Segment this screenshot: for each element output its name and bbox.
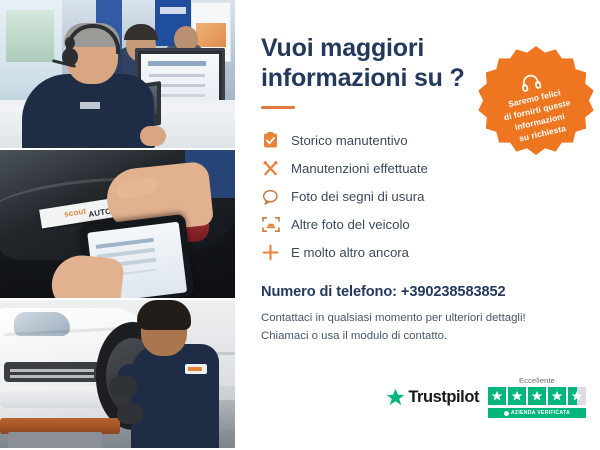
trustpilot-wordmark: Trustpilot: [408, 388, 479, 407]
headline-line-1: Vuoi maggiori: [261, 34, 424, 62]
star-filled: [528, 387, 546, 405]
sticker-on-car-photo: AUTOscout: [0, 150, 235, 298]
page-title: Vuoi maggiori informazioni su ?: [261, 34, 471, 93]
phone-number[interactable]: +390238583852: [401, 284, 506, 300]
photo-column: AUTOscout: [0, 0, 235, 450]
contact-copy-line-1: Contattaci in qualsiasi momento per ulte…: [261, 309, 578, 327]
star-filled: [508, 387, 526, 405]
mechanic-hair: [137, 300, 191, 330]
list-item-label: Altre foto del veicolo: [291, 217, 410, 233]
speech-bubble-icon: [261, 187, 280, 206]
trustpilot-widget[interactable]: Trustpilot Eccellente: [386, 376, 586, 418]
contact-copy: Contattaci in qualsiasi momento per ulte…: [261, 309, 578, 346]
sticker-label: AUTOscout: [63, 206, 86, 218]
mechanic-uniform-badge: [185, 364, 207, 374]
contact-copy-line-2: Chiamaci o usa il modulo di contatto.: [261, 327, 578, 345]
content-panel: Vuoi maggiori informazioni su ? Saremo f…: [235, 0, 600, 450]
check-circle-icon: [504, 411, 509, 416]
list-item-label: E molto altro ancora: [291, 245, 409, 261]
list-item: Storico manutentivo: [261, 131, 501, 150]
phone-label: Numero di telefono:: [261, 284, 397, 300]
list-item: Manutenzioni effettuate: [261, 159, 501, 178]
list-item-label: Manutenzioni effettuate: [291, 161, 428, 177]
title-underline-rule: [261, 106, 295, 109]
headset-icon: [519, 72, 542, 92]
uniform-logo: [80, 102, 100, 109]
verified-badge: AZIENDA VERIFICATA: [488, 408, 586, 418]
mechanic-glove-lower: [117, 404, 143, 424]
star-rating: [488, 387, 586, 405]
rating-label: Eccellente: [488, 376, 586, 385]
star-filled: [548, 387, 566, 405]
feature-list: Storico manutentivo Manutenzioni effettu…: [261, 131, 501, 262]
car-grille: [4, 362, 100, 382]
tools-cross-icon: [261, 159, 280, 178]
car-scan-frame-icon: [261, 215, 280, 234]
list-item: Foto dei segni di usura: [261, 187, 501, 206]
trustpilot-rating: Eccellente: [488, 376, 586, 418]
promo-panel: AUTOscout: [0, 0, 600, 450]
plus-icon: [261, 243, 280, 262]
lift-base: [8, 432, 102, 448]
list-item-label: Foto dei segni di usura: [291, 189, 424, 205]
mechanic-wheel-photo: [0, 300, 235, 448]
mechanic-glove-upper: [109, 376, 137, 398]
mechanic-torso: [131, 344, 219, 448]
verified-label: AZIENDA VERIFICATA: [511, 410, 570, 416]
operator-hand: [140, 126, 166, 146]
star-half: [568, 387, 586, 405]
operator-figure: [22, 26, 154, 148]
trustpilot-logo: Trustpilot: [386, 388, 479, 407]
list-item-label: Storico manutentivo: [291, 133, 408, 149]
headline-line-2: informazioni su ?: [261, 64, 465, 92]
clipboard-check-icon: [261, 131, 280, 150]
list-item: E molto altro ancora: [261, 243, 501, 262]
list-item: Altre foto del veicolo: [261, 215, 501, 234]
call-center-operator-photo: [0, 0, 235, 148]
callout-badge: Saremo felici di fornirti queste informa…: [477, 46, 595, 164]
trustpilot-star-icon: [386, 388, 405, 407]
phone-line: Numero di telefono: +390238583852: [261, 284, 578, 300]
star-filled: [488, 387, 506, 405]
